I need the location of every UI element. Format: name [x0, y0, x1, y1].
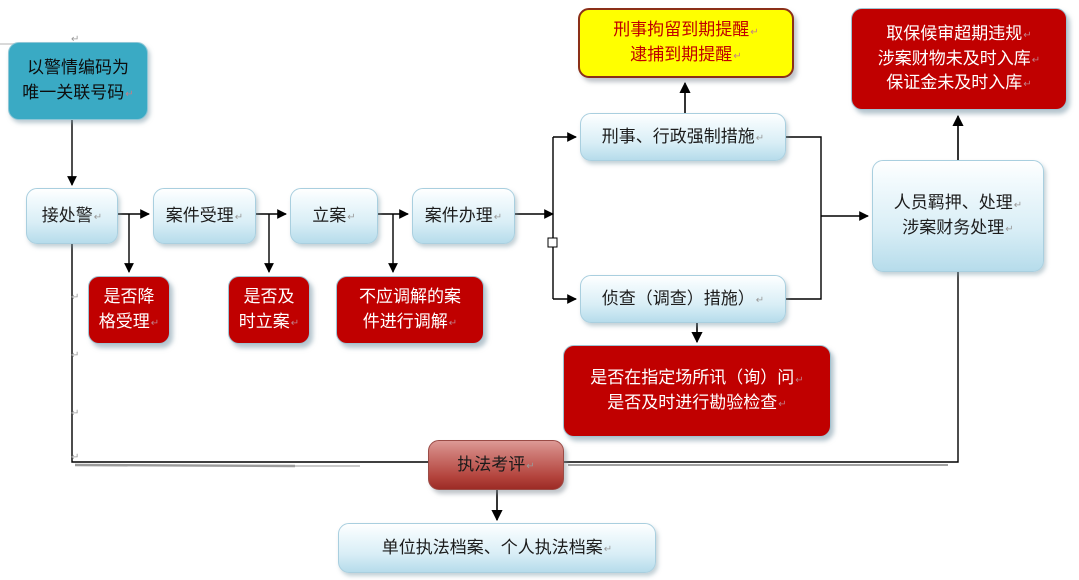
node-qubao-weigui[interactable]: 取保候审超期违规↵涉案财物未及时入库↵保证金未及时入库↵	[851, 8, 1067, 110]
node-label-line: 是否及	[244, 285, 295, 310]
pilcrow-icon: ↵	[795, 375, 803, 386]
pilcrow-icon: ↵	[604, 544, 612, 555]
node-label-line: 涉案财务处理↵	[902, 216, 1013, 241]
node-xunwen-kanyan[interactable]: 是否在指定场所讯（询）问↵是否及时进行勘验检查↵	[563, 345, 831, 437]
pilcrow-icon: ↵	[1014, 200, 1022, 211]
pilcrow-icon: ↵	[778, 399, 786, 410]
pilcrow-icon: ↵	[1032, 55, 1040, 66]
node-label-line: 以警情编码为	[27, 56, 129, 81]
node-label-line: 接处警↵	[42, 204, 102, 229]
pilcrow-artifact-left-4: ↵	[71, 452, 79, 463]
node-label-line: 格受理↵	[99, 310, 159, 335]
pilcrow-icon: ↵	[125, 89, 133, 100]
pilcrow-artifact-top: ↵	[71, 34, 79, 45]
node-li-an[interactable]: 立案↵	[290, 188, 378, 244]
pilcrow-artifact-left-2: ↵	[71, 350, 79, 361]
node-label-line: 立案↵	[312, 204, 355, 229]
pilcrow-icon: ↵	[733, 51, 741, 62]
node-label-line: 件进行调解↵	[363, 310, 457, 335]
pilcrow-icon: ↵	[494, 212, 502, 223]
node-label-line: 执法考评↵	[457, 453, 534, 478]
node-label-line: 是否及时进行勘验检查↵	[607, 391, 786, 416]
node-label-line: 是否在指定场所讯（询）问↵	[590, 366, 803, 391]
node-zhencha-cuoshi[interactable]: 侦查（调查）措施）↵	[580, 275, 786, 323]
node-daoqi-tixing[interactable]: 刑事拘留到期提醒↵逮捕到期提醒↵	[578, 8, 794, 78]
pilcrow-artifact-left-3: ↵	[71, 408, 79, 419]
node-jiechujing[interactable]: 接处警↵	[26, 188, 118, 244]
node-buying-tiaojie[interactable]: 不应调解的案件进行调解↵	[336, 276, 484, 344]
node-label-line: 逮捕到期提醒↵	[630, 43, 741, 68]
pilcrow-icon: ↵	[1023, 30, 1031, 41]
node-anjian-banli[interactable]: 案件办理↵	[412, 188, 515, 244]
node-label-line: 案件办理↵	[425, 204, 502, 229]
pilcrow-icon: ↵	[756, 295, 764, 306]
node-label-line: 取保候审超期违规↵	[886, 22, 1031, 47]
edge-merge-to-renyuan	[786, 137, 821, 299]
node-label-line: 人员羁押、处理↵	[894, 191, 1022, 216]
node-renyuan-jiya[interactable]: 人员羁押、处理↵涉案财务处理↵	[872, 160, 1044, 272]
node-label-line: 案件受理↵	[166, 204, 243, 229]
node-label-line: 单位执法档案、个人执法档案↵	[382, 536, 612, 561]
pilcrow-icon: ↵	[526, 461, 534, 472]
node-label-line: 涉案财物未及时入库↵	[878, 47, 1040, 72]
pilcrow-icon: ↵	[750, 27, 758, 38]
flowchart-canvas: ↵ ↵ ↵ ↵ ↵ 以警情编码为唯一关联号码↵接处警↵案件受理↵立案↵案件办理↵…	[0, 0, 1079, 580]
node-label-line: 不应调解的案	[359, 285, 461, 310]
node-zhifa-kaoping[interactable]: 执法考评↵	[428, 440, 564, 490]
node-label-line: 刑事拘留到期提醒↵	[613, 18, 758, 43]
artifact-underline-left	[75, 465, 295, 466]
pilcrow-icon: ↵	[1023, 79, 1031, 90]
pilcrow-icon: ↵	[94, 212, 102, 223]
node-label-line: 侦查（调查）措施）↵	[602, 287, 764, 312]
branch-junction-handle[interactable]	[548, 238, 557, 247]
node-label-line: 刑事、行政强制措施↵	[602, 125, 764, 150]
pilcrow-icon: ↵	[235, 212, 243, 223]
node-zhifa-dangan[interactable]: 单位执法档案、个人执法档案↵	[338, 523, 656, 573]
pilcrow-icon: ↵	[151, 318, 159, 329]
pilcrow-icon: ↵	[1005, 224, 1013, 235]
node-label-line: 保证金未及时入库↵	[886, 71, 1031, 96]
node-qiangzhi-cuoshi[interactable]: 刑事、行政强制措施↵	[580, 113, 786, 161]
node-label-line: 时立案↵	[239, 310, 299, 335]
pilcrow-icon: ↵	[756, 133, 764, 144]
node-label-line: 是否降	[104, 285, 155, 310]
node-jishi-lian[interactable]: 是否及时立案↵	[228, 276, 310, 344]
node-anjian-shouli[interactable]: 案件受理↵	[153, 188, 256, 244]
pilcrow-icon: ↵	[347, 212, 355, 223]
node-jiangge-shouli[interactable]: 是否降格受理↵	[88, 276, 170, 344]
pilcrow-icon: ↵	[449, 318, 457, 329]
pilcrow-icon: ↵	[291, 318, 299, 329]
node-label-line: 唯一关联号码↵	[22, 81, 133, 106]
pilcrow-artifact-left-1: ↵	[71, 292, 79, 303]
node-start-code[interactable]: 以警情编码为唯一关联号码↵	[8, 42, 148, 120]
